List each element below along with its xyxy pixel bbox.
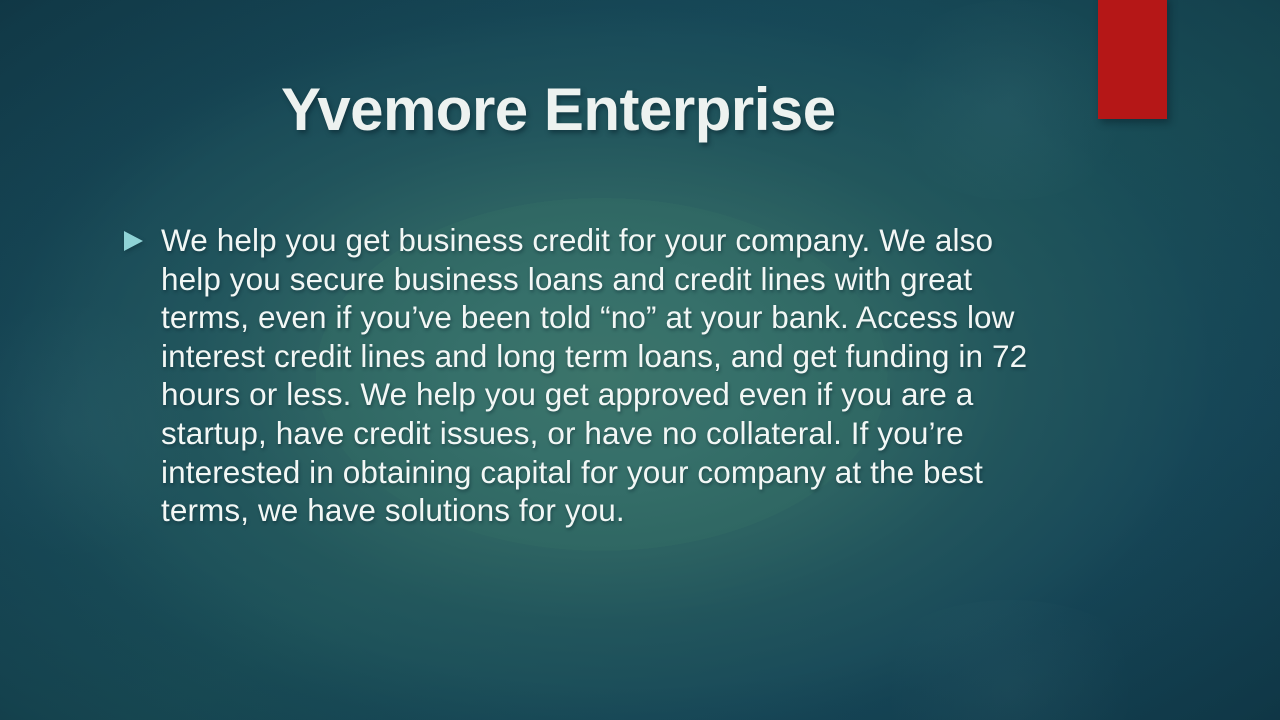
triangle-bullet-icon bbox=[124, 231, 143, 251]
slide-title: Yvemore Enterprise bbox=[281, 74, 836, 146]
red-accent-rectangle bbox=[1098, 0, 1167, 119]
presentation-slide: Yvemore Enterprise We help you get busin… bbox=[0, 0, 1280, 720]
bullet-list-item: We help you get business credit for your… bbox=[124, 221, 1084, 530]
bullet-body-text: We help you get business credit for your… bbox=[161, 221, 1051, 530]
